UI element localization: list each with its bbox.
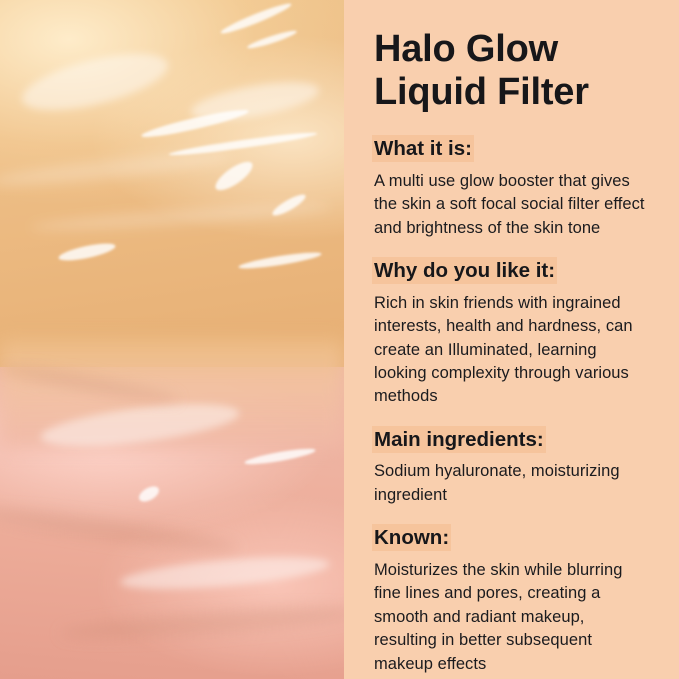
section-heading: What it is:	[374, 137, 472, 160]
section-why-you-like-it: Why do you like it: Rich in skin friends…	[374, 257, 649, 409]
product-swatch-image	[0, 0, 344, 679]
section-what-it-is: What it is: A multi use glow booster tha…	[374, 135, 649, 240]
product-description-panel: Halo Glow Liquid Filter What it is: A mu…	[344, 0, 679, 679]
section-heading: Why do you like it:	[374, 259, 555, 282]
title-line-1: Halo Glow	[374, 28, 558, 70]
section-known: Known: Moisturizes the skin while blurri…	[374, 524, 649, 676]
section-body: A multi use glow booster that gives the …	[374, 170, 649, 240]
section-heading: Known:	[374, 526, 449, 549]
section-body: Moisturizes the skin while blurring fine…	[374, 559, 649, 676]
section-heading-wrap: What it is:	[374, 135, 649, 163]
section-body: Sodium hyaluronate, moisturizing ingredi…	[374, 460, 649, 507]
section-main-ingredients: Main ingredients: Sodium hyaluronate, mo…	[374, 426, 649, 508]
section-body: Rich in skin friends with ingrained inte…	[374, 292, 649, 409]
product-info-card: Halo Glow Liquid Filter What it is: A mu…	[0, 0, 679, 679]
section-heading-wrap: Main ingredients:	[374, 426, 649, 454]
section-heading-wrap: Known:	[374, 524, 649, 552]
section-heading: Main ingredients:	[374, 428, 544, 451]
section-heading-wrap: Why do you like it:	[374, 257, 649, 285]
page-title: Halo Glow Liquid Filter	[374, 28, 649, 113]
title-line-2: Liquid Filter	[374, 71, 589, 113]
